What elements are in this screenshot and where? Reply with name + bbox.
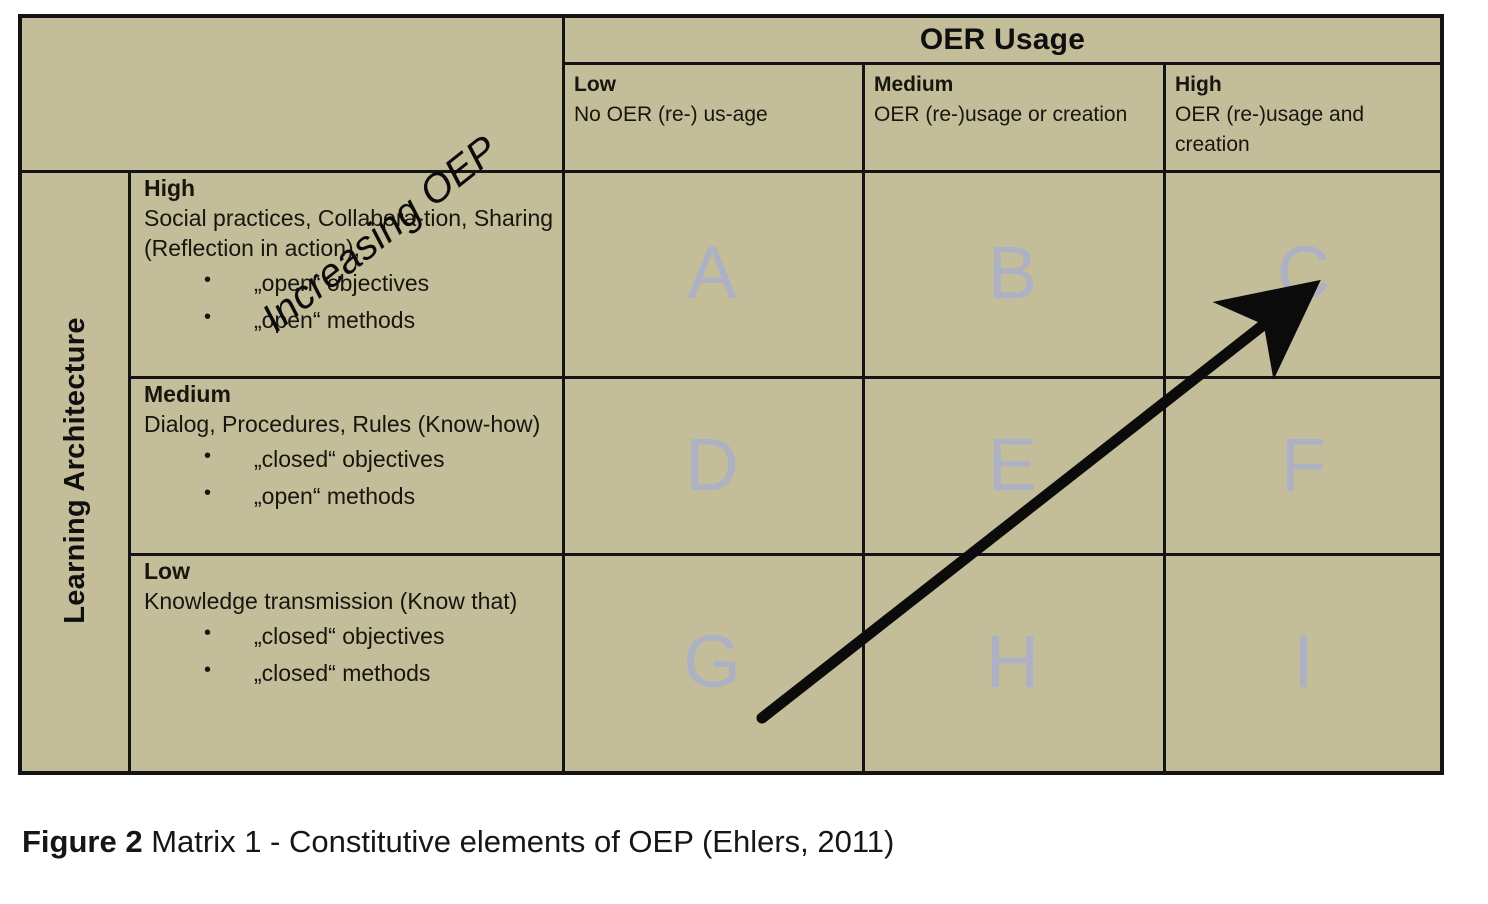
column-header-medium-desc: OER (re-)usage or creation [874,100,1154,130]
row-header-high-bullets: „open“ objectives „open“ methods [144,265,555,340]
figure-caption-text: Matrix 1 - Constitutive elements of OEP … [143,824,895,859]
row-axis-title-container: Learning Architecture [22,170,128,771]
row-header-low-desc: Knowledge transmission (Know that) [144,587,555,617]
list-item: „open“ methods [204,302,555,339]
list-item: „closed“ objectives [204,618,555,655]
column-header-medium: Medium OER (re-)usage or creation [865,65,1163,170]
row-header-low: Low Knowledge transmission (Know that) „… [131,553,565,771]
matrix-cell-d: D [562,376,862,553]
list-item: „open“ methods [204,478,555,515]
row-header-high: High Social practices, Collabora-tion, S… [131,170,565,376]
matrix-cell-h: H [862,553,1163,771]
column-axis-title: OER Usage [565,18,1440,62]
column-header-low-title: Low [574,70,852,100]
column-header-high-desc: OER (re-)usage and creation [1175,100,1435,160]
matrix-cell-g: G [562,553,862,771]
row-header-medium-bullets: „closed“ objectives „open“ methods [144,441,555,516]
row-axis-title: Learning Architecture [59,317,92,624]
column-header-medium-title: Medium [874,70,1154,100]
matrix-cell-c: C [1163,170,1444,376]
column-header-high-title: High [1175,70,1435,100]
matrix-cell-b: B [862,170,1163,376]
row-header-medium: Medium Dialog, Procedures, Rules (Know-h… [131,376,565,553]
column-header-low-desc: No OER (re-) us-age [574,100,852,130]
matrix-cell-a: A [562,170,862,376]
list-item: „closed“ objectives [204,441,555,478]
matrix-cell-f: F [1163,376,1444,553]
column-header-high: High OER (re-)usage and creation [1166,65,1444,170]
matrix-cell-i: I [1163,553,1444,771]
figure-caption-label: Figure 2 [22,824,143,859]
oep-matrix-figure: OER Usage Low No OER (re-) us-age Medium… [18,14,1444,775]
row-header-low-title: Low [144,557,555,587]
row-header-medium-title: Medium [144,380,555,410]
row-header-low-bullets: „closed“ objectives „closed“ methods [144,618,555,693]
list-item: „closed“ methods [204,655,555,692]
list-item: „open“ objectives [204,265,555,302]
row-header-high-desc: Social practices, Collabora-tion, Sharin… [144,204,555,264]
row-header-high-title: High [144,174,555,204]
figure-caption: Figure 2 Matrix 1 - Constitutive element… [22,824,894,860]
row-header-medium-desc: Dialog, Procedures, Rules (Know-how) [144,410,555,440]
column-header-low: Low No OER (re-) us-age [565,65,861,170]
matrix-cell-e: E [862,376,1163,553]
